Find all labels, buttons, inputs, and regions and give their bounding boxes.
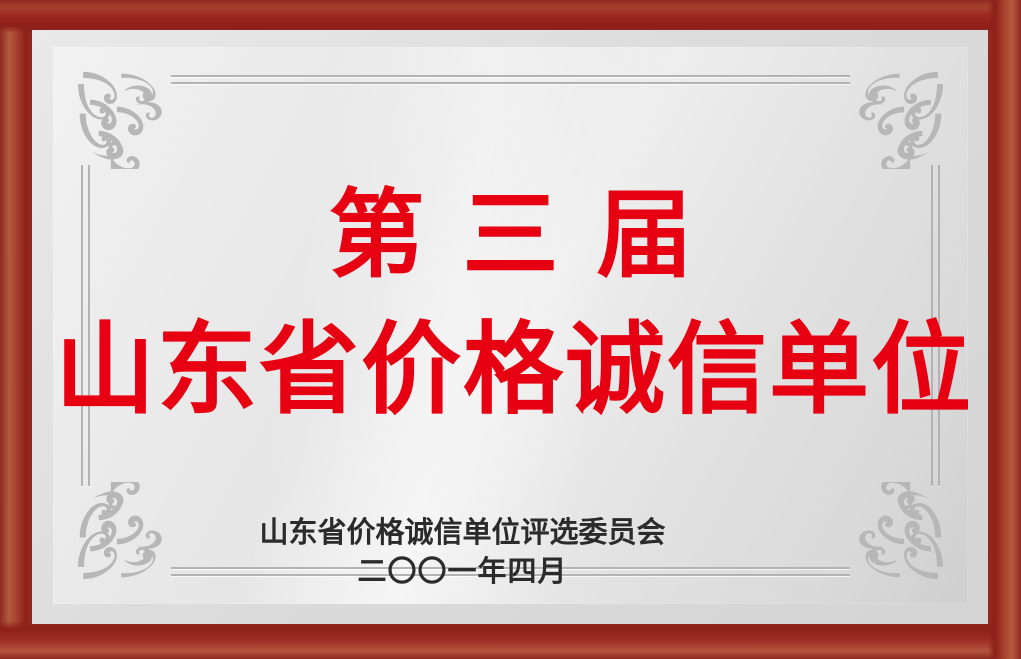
frame-mat: 第三届 山东省价格诚信单位 山东省价格诚信单位评选委员会 二〇〇一年四月 [32, 30, 988, 624]
award-edition-line: 第三届 [53, 187, 968, 283]
issuing-organization: 山东省价格诚信单位评选委员会 [53, 513, 872, 551]
issue-date: 二〇〇一年四月 [53, 551, 872, 591]
award-plaque: 第三届 山东省价格诚信单位 山东省价格诚信单位评选委员会 二〇〇一年四月 [0, 0, 1021, 659]
signature-block: 山东省价格诚信单位评选委员会 二〇〇一年四月 [53, 513, 872, 591]
inscription: 第三届 山东省价格诚信单位 山东省价格诚信单位评选委员会 二〇〇一年四月 [53, 47, 968, 604]
award-title-line: 山东省价格诚信单位 [53, 319, 968, 419]
engraved-panel: 第三届 山东省价格诚信单位 山东省价格诚信单位评选委员会 二〇〇一年四月 [53, 47, 968, 604]
